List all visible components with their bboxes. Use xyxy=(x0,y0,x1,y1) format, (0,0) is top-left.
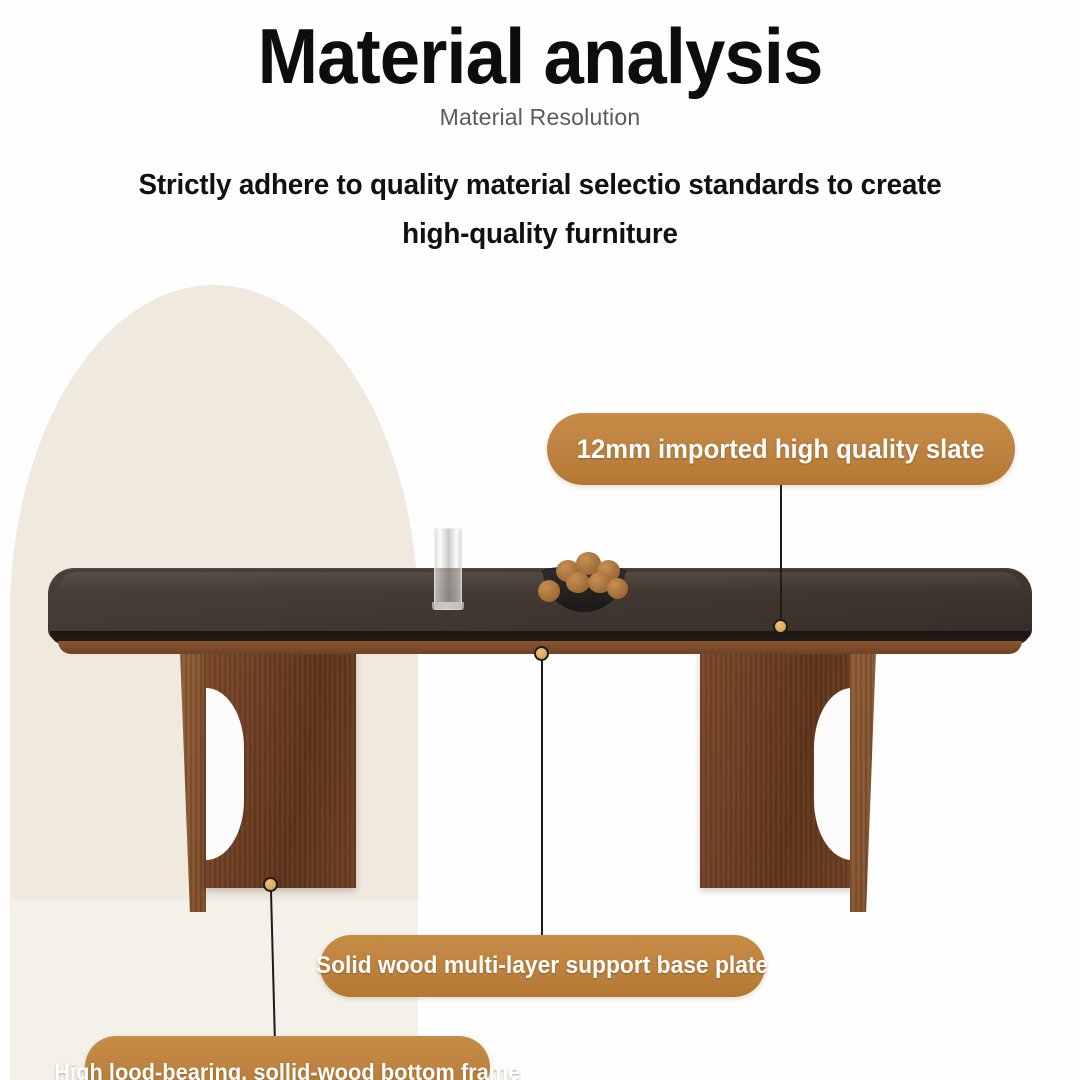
callout-anchor-dot-slate xyxy=(773,619,788,634)
callout-label-bottom-frame: High lood-bearing. sollid-wood bottom fr… xyxy=(54,1049,520,1080)
walnut xyxy=(566,572,590,593)
callout-pill-base-plate[interactable]: Solid wood multi-layer support base plat… xyxy=(320,935,765,997)
page-title: Material analysis xyxy=(38,14,1042,98)
table-leg-left xyxy=(180,650,360,900)
walnut xyxy=(607,578,628,599)
infographic-page: Material analysis Material Resolution St… xyxy=(0,0,1080,1080)
walnut xyxy=(538,580,560,602)
callout-leader-line-slate xyxy=(780,485,782,625)
callout-anchor-dot-base-plate xyxy=(534,646,549,661)
callout-label-slate: 12mm imported high quality slate xyxy=(577,434,985,465)
drinking-glass-base xyxy=(432,602,464,610)
tagline: Strictly adhere to quality material sele… xyxy=(22,161,1059,259)
leg-fin-left xyxy=(180,650,206,912)
header-block: Material analysis Material Resolution St… xyxy=(0,0,1080,259)
tagline-line-2: high-quality furniture xyxy=(22,210,1059,259)
drinking-glass xyxy=(434,528,462,610)
callout-label-base-plate: Solid wood multi-layer support base plat… xyxy=(316,952,768,980)
tagline-line-1: Strictly adhere to quality material sele… xyxy=(22,161,1059,210)
callout-pill-bottom-frame[interactable]: High lood-bearing. sollid-wood bottom fr… xyxy=(85,1036,490,1080)
leg-fin-right xyxy=(850,650,876,912)
page-subtitle: Material Resolution xyxy=(0,104,1080,131)
callout-pill-slate[interactable]: 12mm imported high quality slate xyxy=(547,413,1015,485)
table-leg-right xyxy=(700,650,890,900)
callout-anchor-dot-bottom-frame xyxy=(263,877,278,892)
callout-leader-line-base-plate xyxy=(541,660,543,938)
